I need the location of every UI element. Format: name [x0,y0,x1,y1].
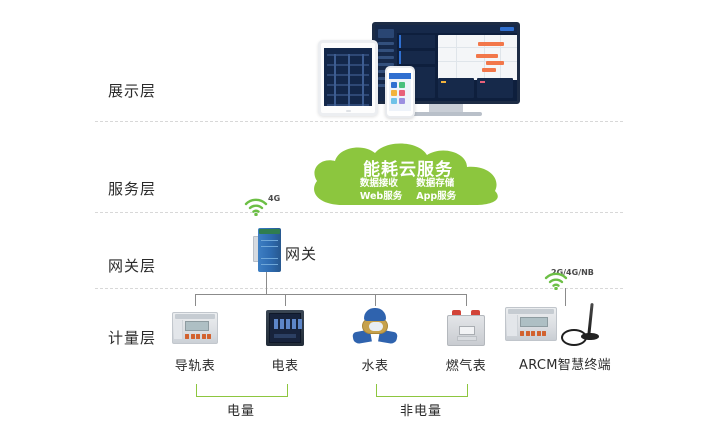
smartphone-device [385,66,415,118]
monitor-stand-neck [429,104,463,112]
din-rail-meter-icon [172,312,218,344]
monitor-topbar [397,25,517,33]
tablet-home-indicator [346,110,351,112]
cloud-service-data-receive: 数据接收 [360,177,402,190]
monitor-stand-base [410,112,482,116]
meter-din-rail: 导轨表 [156,306,234,374]
architecture-diagram: 展示层 服务层 网关层 计量层 [0,0,715,443]
tablet-device [318,40,378,116]
cloud-services-right: 数据存储 App服务 [416,177,456,203]
arcm-terminal-icon [505,303,625,349]
panel-meter-icon [266,310,304,346]
monitor-widget-row [399,78,513,98]
group-label-non-electric: 非电量 [376,400,466,419]
layer-label-service: 服务层 [108,178,188,199]
gas-meter-icon [447,310,485,346]
connector-drop-water [375,294,376,306]
wifi-icon [544,272,568,290]
layer-label-display: 展示层 [108,80,188,101]
connector-drop-gas [466,294,467,306]
connector-gateway-drop [266,272,267,294]
cloud-service-web: Web服务 [360,190,402,203]
wifi-icon [244,198,268,216]
divider-display-service [95,121,623,122]
gateway-label: 网关 [285,243,317,264]
antenna-icon [587,303,593,335]
arcm-terminal-label: ARCM智慧终端 [505,354,625,373]
bracket-non-electric [376,384,468,397]
tablet-screen [324,48,372,106]
meter-gas: 燃气表 [427,306,505,374]
meter-water: 水表 [336,306,414,374]
meter-electricity: 电表 [246,306,324,374]
monitor-map-panel [438,35,518,80]
cloud-service-app: App服务 [416,190,456,203]
gateway-uplink-tag: 4G [268,194,280,203]
cloud-service-node: 能耗云服务 数据接收 Web服务 数据存储 App服务 [303,143,513,209]
connector-bus [195,294,466,295]
phone-screen [389,73,411,111]
connector-drop-electricity [285,294,286,306]
meter-label-electricity: 电表 [246,355,324,374]
meter-label-din-rail: 导轨表 [156,355,234,374]
cloud-services-left: 数据接收 Web服务 [360,177,402,203]
gateway-device-icon [253,228,281,272]
cloud-service-data-storage: 数据存储 [416,177,456,190]
meter-label-water: 水表 [336,355,414,374]
bracket-electric [196,384,288,397]
meter-label-gas: 燃气表 [427,355,505,374]
divider-service-gateway [95,212,623,213]
connector-drop-din [195,294,196,306]
group-label-electric: 电量 [196,400,286,419]
layer-label-gateway: 网关层 [108,255,188,276]
water-meter-icon [353,308,397,348]
